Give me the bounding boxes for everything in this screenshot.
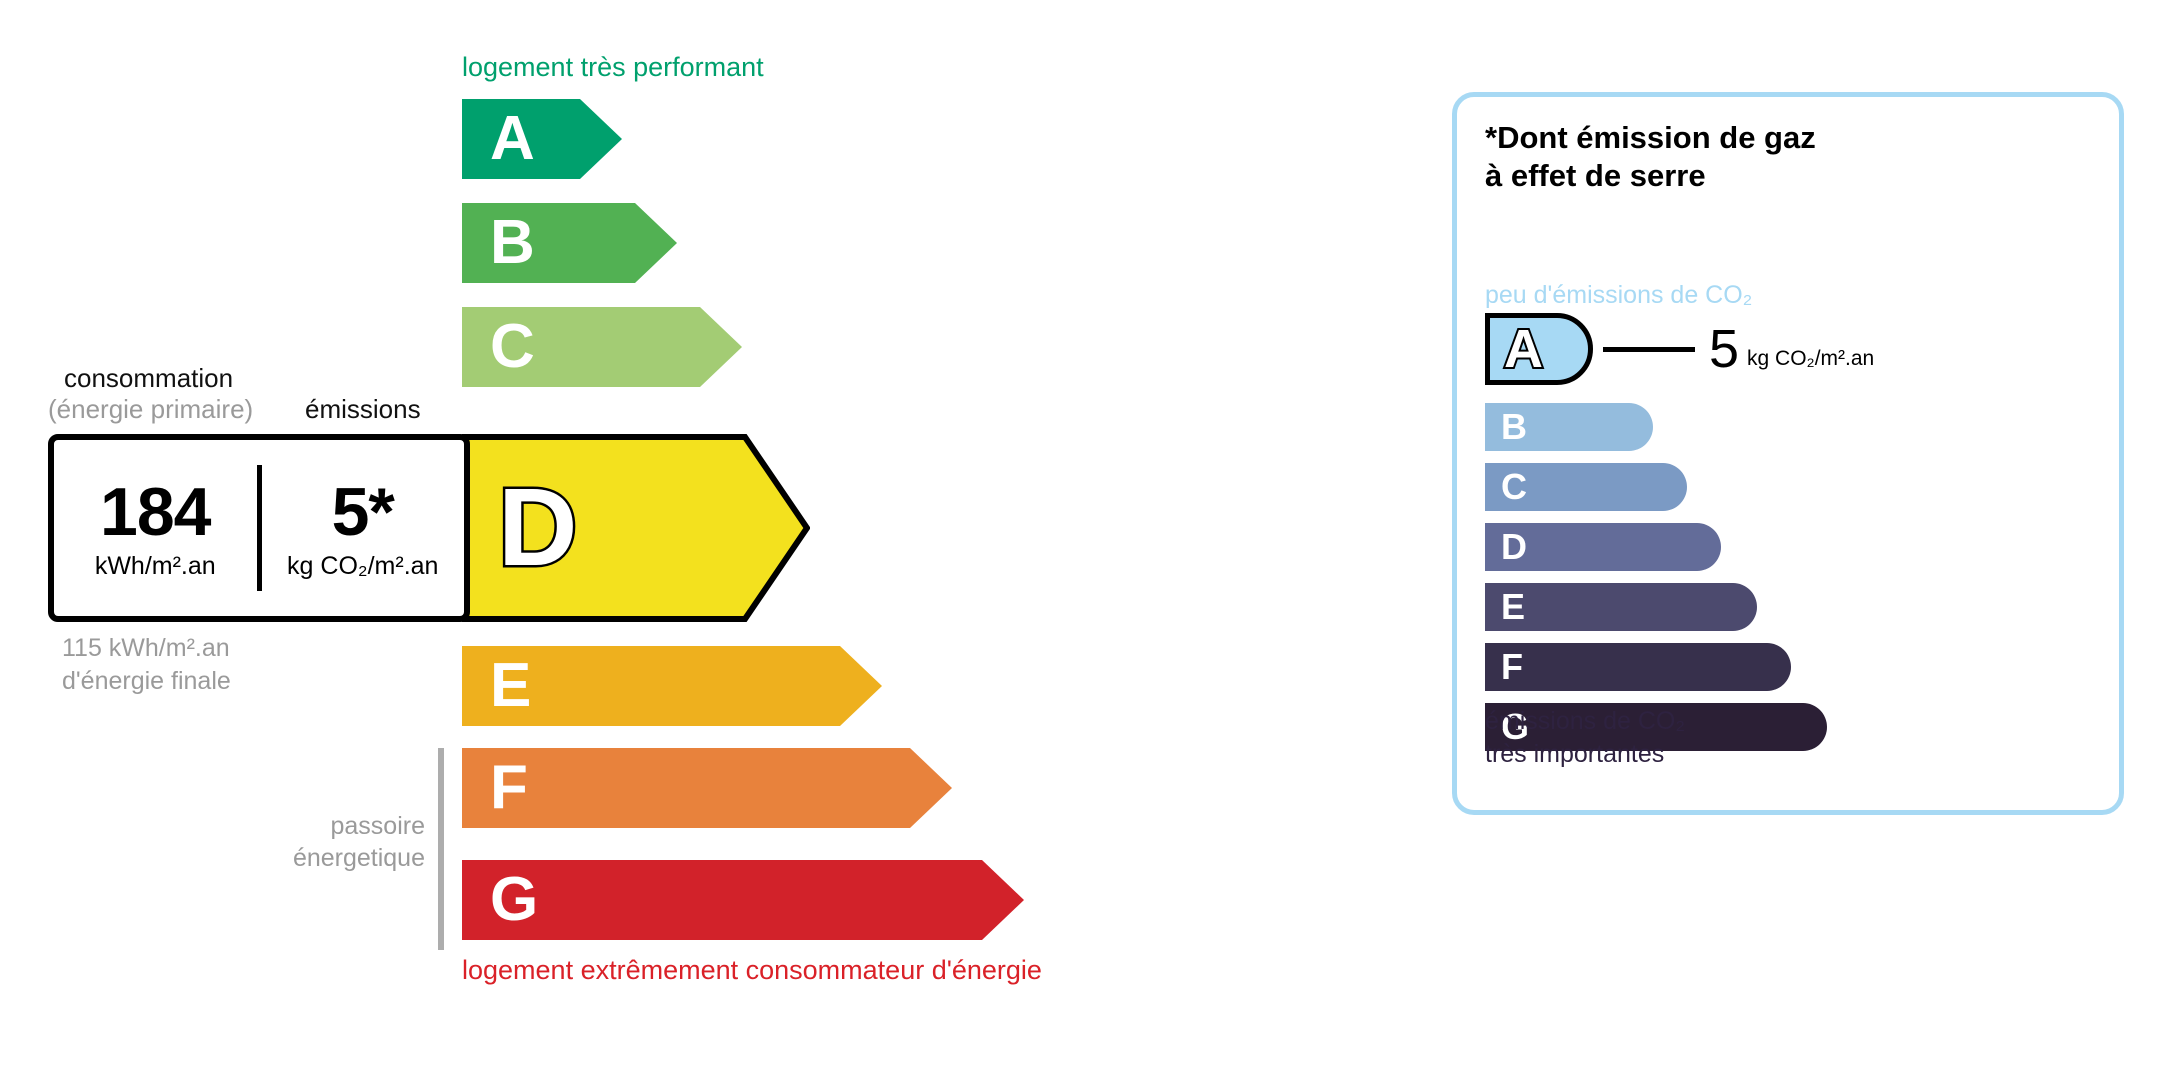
final-energy-note: 115 kWh/m².an d'énergie finale [62, 632, 231, 697]
energy-arrow-letter-b: B [490, 212, 535, 274]
co2-bar-f: F [1485, 643, 1791, 691]
energy-arrow-letter-f: F [490, 757, 528, 819]
consumption-value-cell: 184 kWh/m².an [54, 477, 257, 579]
energy-arrow-d: D [462, 434, 810, 622]
energy-sieve-bracket [438, 748, 444, 950]
co2-bar-letter-e: E [1501, 589, 1525, 625]
energy-sieve-label: passoire énergetique [240, 810, 425, 874]
co2-bar-shape-e: E [1485, 583, 1757, 631]
co2-bar-shape-b: B [1485, 403, 1653, 451]
co2-panel-title: *Dont émission de gaz à effet de serre [1485, 119, 1816, 195]
co2-bar-letter-b: B [1501, 409, 1527, 445]
energy-arrow-letter-g: G [490, 869, 538, 931]
arrow-shape-g [462, 860, 1024, 940]
energy-arrow-c: C [462, 307, 742, 387]
co2-emissions-panel: *Dont émission de gaz à effet de serre p… [1452, 92, 2124, 815]
co2-leader-line [1603, 347, 1695, 352]
co2-top-caption: peu d'émissions de CO₂ [1485, 281, 1752, 310]
energy-performance-scale: logement très performant ABCDEFG logemen… [0, 0, 1400, 1079]
co2-value: 5 [1709, 322, 1739, 376]
co2-bar-e: E [1485, 583, 1757, 631]
energy-arrow-letter-c: C [490, 316, 535, 378]
final-energy-line1: 115 kWh/m².an [62, 632, 231, 665]
co2-title-line2: à effet de serre [1485, 157, 1816, 195]
energy-arrow-g: G [462, 860, 1024, 940]
co2-bar-shape-c: C [1485, 463, 1687, 511]
primary-energy-label: (énergie primaire) [48, 394, 253, 425]
co2-bottom-line2: très importantes [1485, 738, 1685, 771]
co2-bar-d: D [1485, 523, 1721, 571]
emission-value-cell: 5* kg CO₂/m².an [262, 477, 465, 579]
energy-arrow-a: A [462, 99, 622, 179]
arrow-shape-f [462, 748, 952, 828]
energy-arrow-letter-e: E [490, 655, 531, 717]
emission-unit: kg CO₂/m².an [262, 553, 465, 579]
consumption-unit: kWh/m².an [54, 553, 257, 579]
co2-bar-letter-c: C [1501, 469, 1527, 505]
co2-bar-letter-d: D [1501, 529, 1527, 565]
co2-bar-shape-d: D [1485, 523, 1721, 571]
emissions-label: émissions [305, 394, 421, 425]
energy-arrow-f: F [462, 748, 952, 828]
co2-selected-class-row: A 5 kg CO₂/m².an [1485, 313, 1874, 385]
emission-value: 5* [262, 477, 465, 548]
consumption-label: consommation [64, 363, 233, 394]
energy-scale-top-caption: logement très performant [462, 52, 764, 83]
consumption-value: 184 [54, 477, 257, 548]
co2-bottom-caption: émissions de CO₂ très importantes [1485, 705, 1685, 770]
arrow-shape-a [462, 99, 622, 179]
co2-badge-letter: A [1504, 322, 1543, 376]
energy-sieve-line2: énergetique [240, 842, 425, 874]
co2-bar-b: B [1485, 403, 1653, 451]
co2-title-line1: *Dont émission de gaz [1485, 119, 1816, 157]
co2-bar-shape-f: F [1485, 643, 1791, 691]
energy-arrow-letter-a: A [490, 108, 535, 170]
final-energy-line2: d'énergie finale [62, 665, 231, 698]
co2-bar-c: C [1485, 463, 1687, 511]
co2-bar-letter-f: F [1501, 649, 1523, 685]
energy-arrow-e: E [462, 646, 882, 726]
energy-arrow-b: B [462, 203, 677, 283]
co2-class-badge-a: A [1485, 313, 1593, 385]
energy-sieve-line1: passoire [240, 810, 425, 842]
energy-scale-bottom-caption: logement extrêmement consommateur d'éner… [462, 955, 1042, 986]
co2-unit: kg CO₂/m².an [1747, 347, 1874, 371]
co2-bottom-line1: émissions de CO₂ [1485, 705, 1685, 738]
energy-arrow-letter-d: D [498, 473, 577, 583]
value-readout-box: 184 kWh/m².an 5* kg CO₂/m².an [48, 434, 470, 622]
